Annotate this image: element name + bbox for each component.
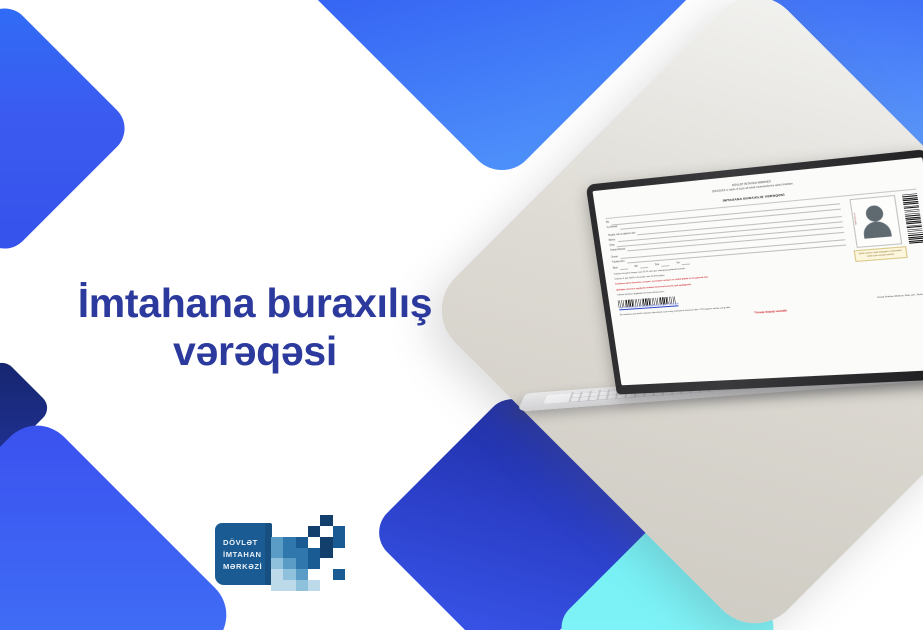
logo-mosaic-cell <box>308 515 320 526</box>
field-value <box>682 261 691 265</box>
field-label: Qrup <box>609 244 615 248</box>
logo-mosaic-cell <box>283 569 295 580</box>
logo-mosaic-cell <box>283 580 295 591</box>
logo-mosaic-cell <box>296 580 308 591</box>
field-value <box>661 263 670 267</box>
logo-mosaic-cell <box>320 548 332 559</box>
logo-mosaic-cell <box>308 537 320 548</box>
laptop-illustration: DÖVLƏT İMTAHAN MƏRKƏZİ 20XX/20XX-ci tədr… <box>500 167 923 444</box>
logo-mosaic-cell <box>271 580 283 591</box>
logo-mosaic-cell <box>333 558 345 569</box>
logo-mosaic-cell <box>296 537 308 548</box>
diamond-top-left <box>0 0 135 259</box>
logo-mosaic-cell <box>320 580 332 591</box>
document-photo-column: Şəkil üçün yer Şəkil nəzarət, audit müqa… <box>846 193 923 291</box>
admission-document: DÖVLƏT İMTAHAN MƏRKƏZİ 20XX/20XX-ci tədr… <box>592 157 923 385</box>
logo-mosaic-cell <box>333 548 345 559</box>
laptop-lid: DÖVLƏT İMTAHAN MƏRKƏZİ 20XX/20XX-ci tədr… <box>586 149 923 395</box>
field-label: Zal <box>634 265 638 269</box>
logo-mosaic-cell <box>308 558 320 569</box>
logo-mosaic-cell <box>271 526 283 537</box>
field-label: Bina <box>613 267 618 271</box>
avatar-body-icon <box>862 221 892 239</box>
logo-mosaic-cell <box>320 558 332 569</box>
avatar-head-icon <box>865 205 884 223</box>
document-fields-column: İİN İş nömrəsi Soyadı, adı və atasının a… <box>606 201 853 308</box>
logo-line-1: DÖVLƏT <box>223 538 271 547</box>
document-footer-right: Dövlət İmtahan Mərkəzi, Bakı şəh., Nərim… <box>877 293 923 300</box>
poster-canvas: DÖVLƏT İMTAHAN MƏRKƏZİ 20XX/20XX-ci tədr… <box>0 0 923 630</box>
field-label: İİN <box>606 222 609 226</box>
logo-mosaic-cell <box>333 515 345 526</box>
logo-mosaic-cell <box>271 537 283 548</box>
logo-line-2: İMTAHAN <box>223 550 271 559</box>
field-label: Sıra <box>655 264 660 268</box>
logo-mosaic-cell <box>283 548 295 559</box>
logo-mosaic-cell <box>308 526 320 537</box>
field-value <box>619 266 627 270</box>
page-title: İmtahana buraxılış vərəqəsi <box>40 280 470 375</box>
document-field: Bina <box>613 266 628 270</box>
logo-pixel-mosaic <box>271 515 345 591</box>
logo-mosaic-cell <box>283 558 295 569</box>
logo-mosaic-cell <box>308 548 320 559</box>
logo-mosaic-cell <box>333 580 345 591</box>
document-field: Zal <box>634 265 648 269</box>
logo-mosaic-cell <box>271 515 283 526</box>
logo-mosaic-cell <box>308 580 320 591</box>
field-label: İş nömrəsi <box>607 226 618 230</box>
field-value <box>640 265 649 269</box>
logo-mosaic-cell <box>333 526 345 537</box>
logo-mosaic-cell <box>320 526 332 537</box>
field-label: Bölmə <box>609 239 616 243</box>
field-label: Ünvan <box>611 256 618 260</box>
logo-mosaic-cell <box>320 515 332 526</box>
photo-notice: Şəkil nəzarət, audit müqayisə və biometr… <box>854 247 908 263</box>
logo-mosaic-cell <box>333 569 345 580</box>
logo-mosaic-cell <box>308 569 320 580</box>
logo-mosaic-cell <box>271 558 283 569</box>
logo-mosaic-cell <box>296 558 308 569</box>
field-label: Təyinat üzrə <box>612 261 625 265</box>
logo-mosaic-cell <box>320 569 332 580</box>
logo-mosaic-cell <box>271 569 283 580</box>
page-title-line-1: İmtahana buraxılış <box>78 280 433 326</box>
logo-mosaic-cell <box>296 515 308 526</box>
logo-mosaic-cell <box>283 515 295 526</box>
logo-mosaic-cell <box>296 548 308 559</box>
photo-caption: Şəkil üçün yer <box>854 213 859 225</box>
photo-placeholder: Şəkil üçün yer <box>849 195 902 248</box>
page-title-line-2: vərəqəsi <box>40 328 470 376</box>
document-field: Sıra <box>655 263 670 268</box>
logo-mosaic-cell <box>283 537 295 548</box>
diamond-left-bottom <box>0 410 242 630</box>
logo-mosaic-cell <box>296 526 308 537</box>
field-label: İxtisas bölməsi <box>610 248 625 253</box>
laptop-screen: DÖVLƏT İMTAHAN MƏRKƏZİ 20XX/20XX-ci tədr… <box>592 157 923 385</box>
logo-mosaic-cell <box>320 537 332 548</box>
logo-mosaic-cell <box>296 569 308 580</box>
logo-mosaic-cell <box>271 548 283 559</box>
logo-mosaic-cell <box>283 526 295 537</box>
barcode-vertical <box>902 193 923 244</box>
logo-mosaic-cell <box>333 537 345 548</box>
dim-logo: DÖVLƏT İMTAHAN MƏRKƏZİ <box>215 515 345 591</box>
logo-line-3: MƏRKƏZİ <box>223 562 271 571</box>
field-label: Yer <box>676 262 680 266</box>
logo-text-panel: DÖVLƏT İMTAHAN MƏRKƏZİ <box>215 523 271 585</box>
document-field: Yer <box>676 261 690 265</box>
